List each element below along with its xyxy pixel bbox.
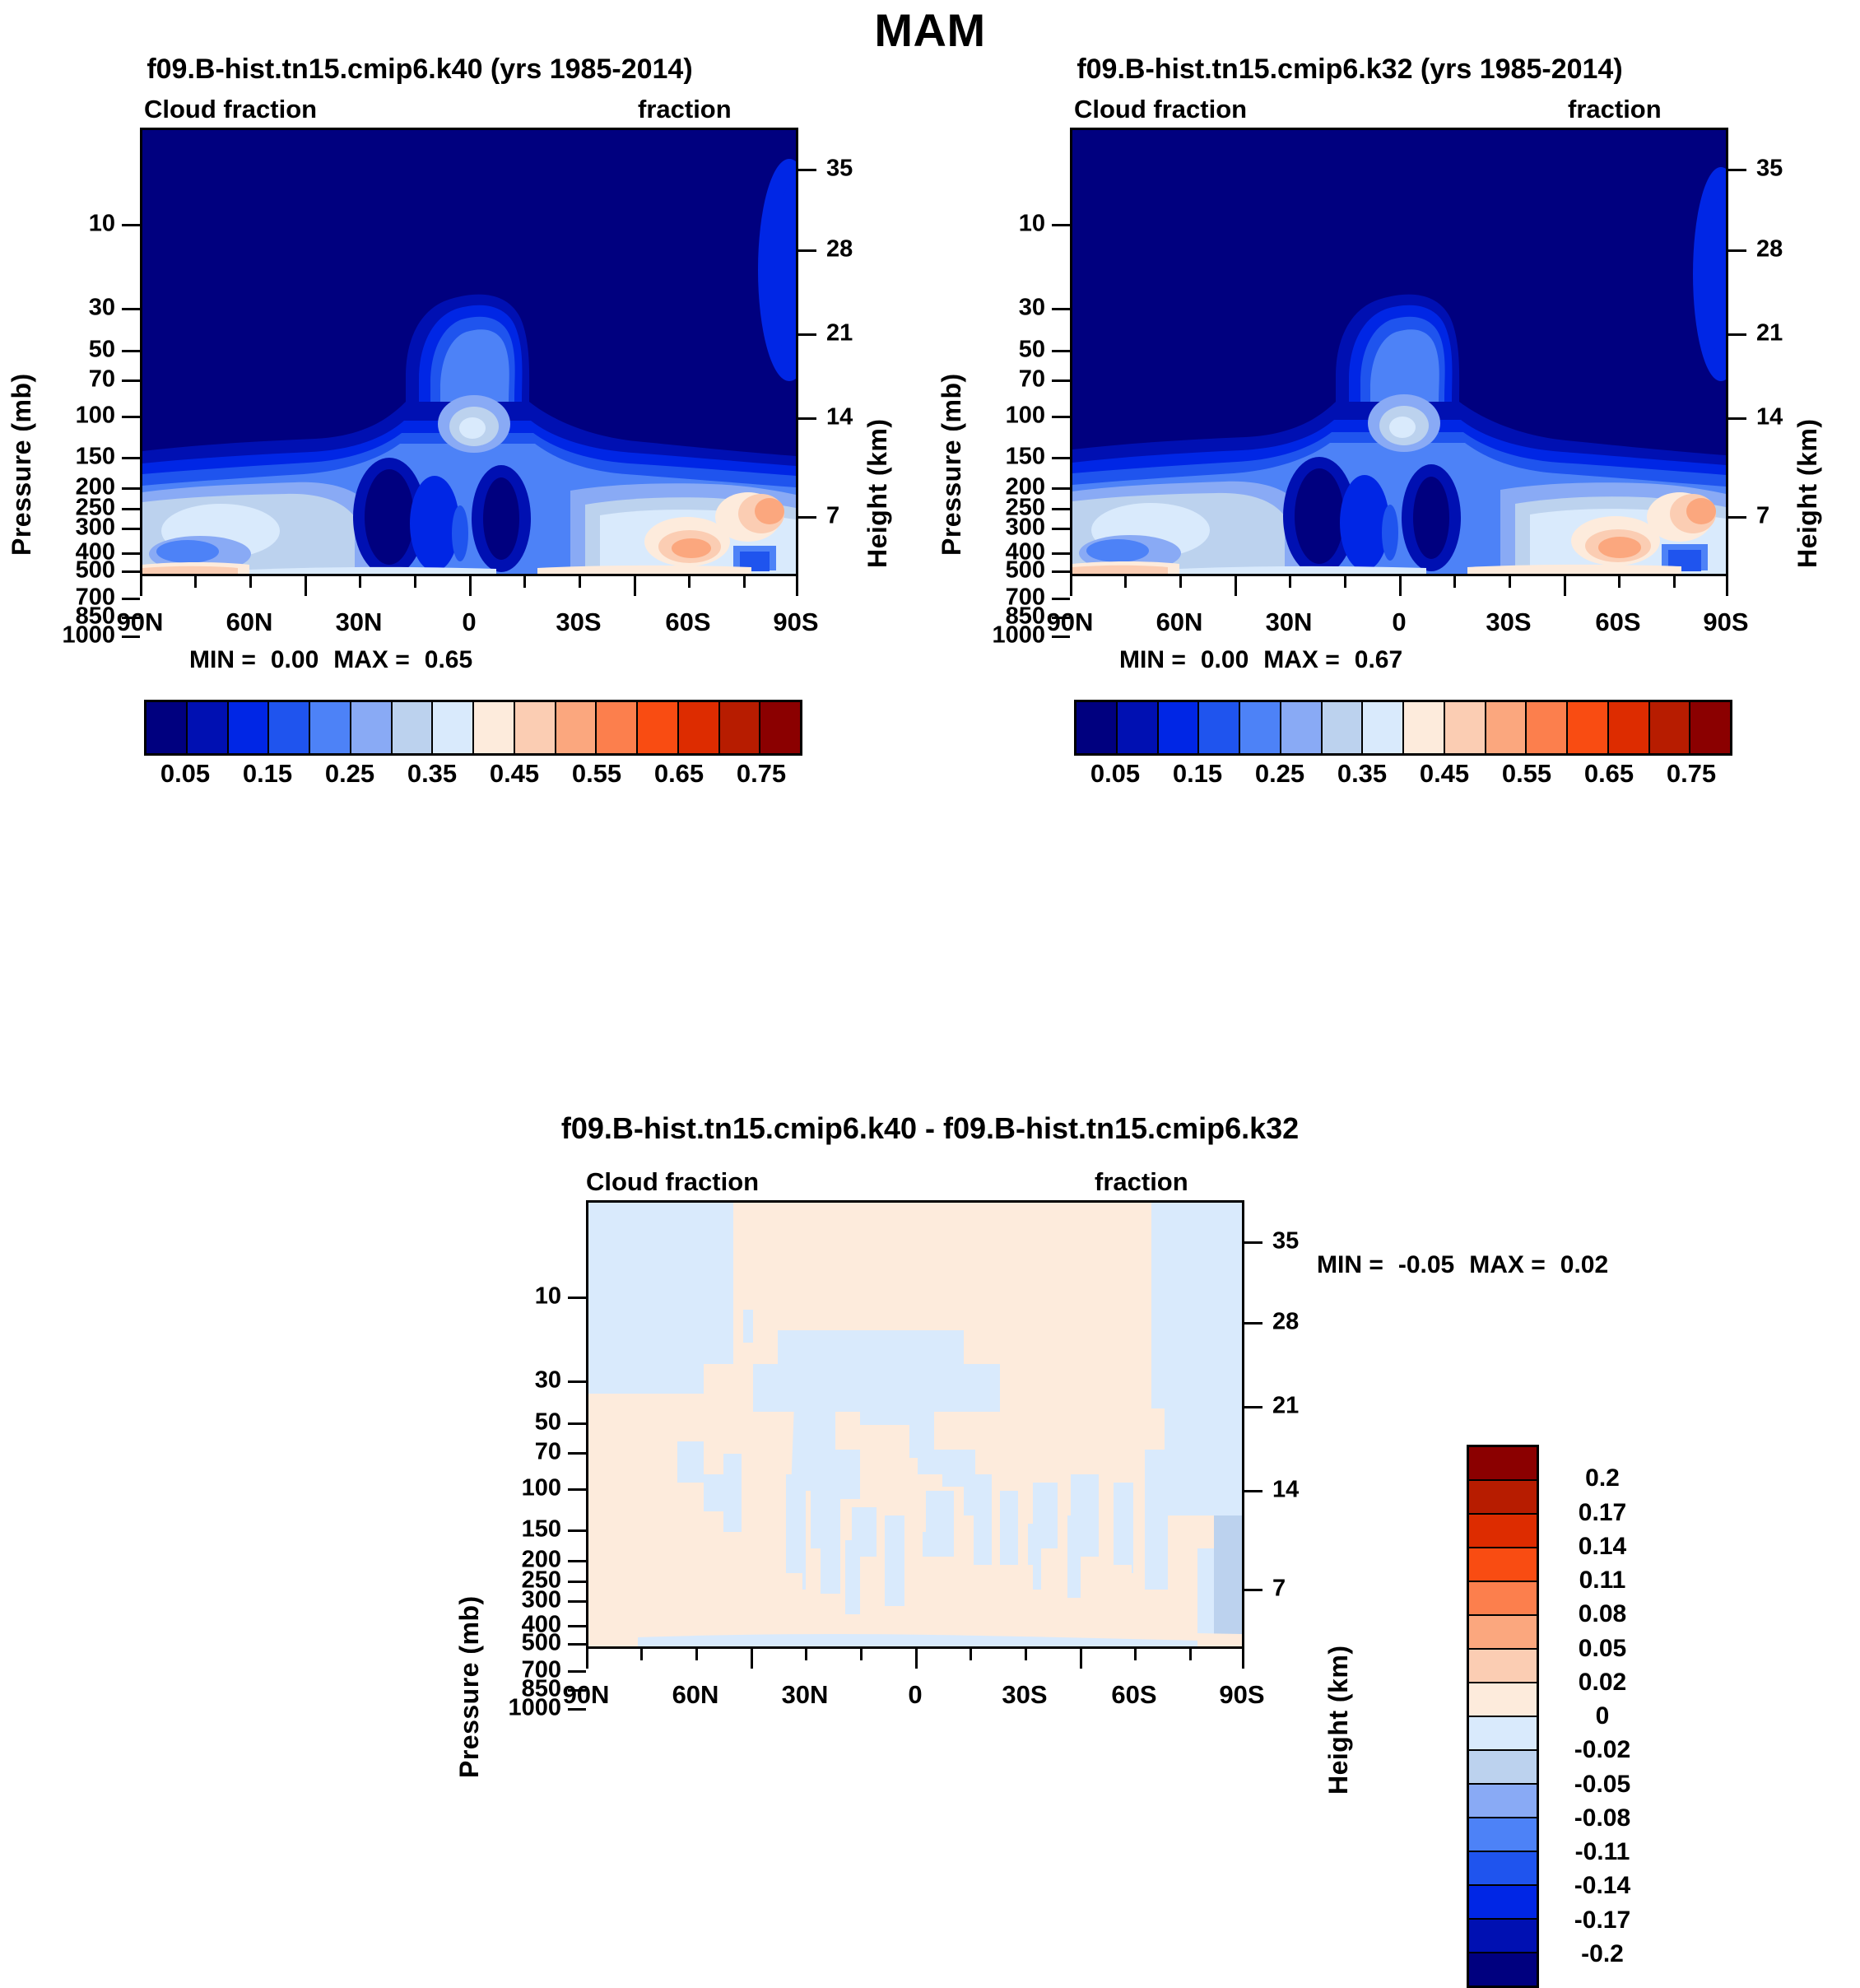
xtick-mark xyxy=(640,1649,643,1660)
colorbar-tick-label: 0.35 xyxy=(407,759,457,789)
panel-k40-minmax: MIN = 0.00 MAX = 0.65 xyxy=(189,646,472,674)
ytick-mark xyxy=(568,1600,586,1603)
xtick-label: 30N xyxy=(782,1680,829,1710)
y2tick-label: 7 xyxy=(826,503,839,530)
colorbar-strip xyxy=(1074,700,1732,756)
xtick-mark xyxy=(1618,576,1621,588)
colorbar-tick-label: 0.55 xyxy=(572,759,621,789)
y2tick-mark xyxy=(1244,1241,1262,1244)
max-label: MAX = xyxy=(333,646,410,674)
xtick-label: 60N xyxy=(226,608,273,637)
ytick-mark xyxy=(1052,598,1070,600)
colorbar-cell xyxy=(1404,702,1445,753)
panel-k40-units-label: fraction xyxy=(638,95,732,124)
panel-k32-field-label: Cloud fraction xyxy=(1074,95,1247,124)
colorbar-strip xyxy=(1467,1445,1539,1988)
colorbar-tick-label: 0.45 xyxy=(490,759,539,789)
panel-k32-plot-area xyxy=(1070,128,1728,576)
y2tick-label: 7 xyxy=(1756,503,1769,530)
xtick-label: 30S xyxy=(556,608,601,637)
colorbar-cell xyxy=(679,702,720,753)
panel-k32-contour-svg xyxy=(1072,130,1726,574)
y2tick-label: 28 xyxy=(1272,1309,1299,1336)
xtick-label: 90S xyxy=(1219,1680,1264,1710)
xtick-mark xyxy=(1025,1649,1027,1660)
colorbar-labels: 0.050.150.250.350.450.550.650.75 xyxy=(1074,756,1732,792)
colorbar-cell xyxy=(720,702,761,753)
xtick-mark xyxy=(249,576,252,588)
ytick-label: 150 xyxy=(1006,444,1045,471)
colorbar-cell xyxy=(1568,702,1609,753)
colorbar-cell xyxy=(1469,1785,1537,1818)
colorbar-cell xyxy=(310,702,351,753)
xtick-mark xyxy=(1124,576,1127,588)
max-value: 0.67 xyxy=(1355,646,1402,674)
panel-k32: f09.B-hist.tn15.cmip6.k32 (yrs 1985-2014… xyxy=(930,49,1860,1128)
colorbar-cell xyxy=(1469,1515,1537,1548)
xtick-mark xyxy=(1242,1649,1244,1669)
xtick-label: 0 xyxy=(462,608,476,637)
colorbar-cell xyxy=(1690,702,1730,753)
ytick-label: 300 xyxy=(1006,514,1045,542)
xtick-mark xyxy=(523,576,526,588)
colorbar-cell xyxy=(146,702,188,753)
xtick-label: 60S xyxy=(1111,1680,1156,1710)
colorbar-tick-label: 0.25 xyxy=(1255,759,1304,789)
y2tick-mark xyxy=(1728,516,1746,519)
colorbar-tick-label: 0.25 xyxy=(325,759,374,789)
ytick-mark xyxy=(568,1422,586,1425)
ytick-mark xyxy=(1052,487,1070,490)
colorbar-labels: 0.20.170.140.110.080.050.020-0.02-0.05-0… xyxy=(1549,1445,1656,1988)
y2tick-mark xyxy=(1728,169,1746,171)
ytick-label: 150 xyxy=(76,444,115,471)
y2tick-label: 28 xyxy=(826,236,853,263)
colorbar-cell xyxy=(638,702,679,753)
panel-k32-xaxis: 90N 60N 30N 0 30S 60S 90S xyxy=(1070,576,1728,650)
y2tick-mark xyxy=(1728,417,1746,420)
xtick-label: 0 xyxy=(1392,608,1406,637)
colorbar-cell xyxy=(1445,702,1486,753)
xtick-label: 30S xyxy=(1002,1680,1047,1710)
panel-diff-minmax: MIN = -0.05 MAX = 0.02 xyxy=(1317,1251,1608,1279)
min-label: MIN = xyxy=(189,646,256,674)
ytick-label: 500 xyxy=(1006,557,1045,584)
colorbar-cell xyxy=(393,702,434,753)
max-value: 0.02 xyxy=(1560,1251,1608,1279)
colorbar-labels: 0.050.150.250.350.450.550.650.75 xyxy=(144,756,802,792)
colorbar-tick-label: -0.08 xyxy=(1549,1804,1656,1832)
ytick-label: 1000 xyxy=(508,1695,561,1722)
panel-k32-title: f09.B-hist.tn15.cmip6.k32 (yrs 1985-2014… xyxy=(930,54,1769,86)
y2tick-mark xyxy=(1244,1322,1262,1325)
colorbar-cell xyxy=(1281,702,1323,753)
y2tick-label: 28 xyxy=(1756,236,1783,263)
colorbar-tick-label: -0.14 xyxy=(1549,1872,1656,1900)
colorbar-tick-label: -0.17 xyxy=(1549,1907,1656,1934)
panel-k40-y2axis: 35 28 21 14 7 xyxy=(798,128,889,576)
xtick-mark xyxy=(140,576,142,596)
colorbar-cell xyxy=(1159,702,1200,753)
colorbar-cell xyxy=(351,702,393,753)
y2tick-mark xyxy=(798,417,816,420)
ytick-mark xyxy=(568,1297,586,1299)
ytick-mark xyxy=(568,1380,586,1383)
min-label: MIN = xyxy=(1119,646,1186,674)
colorbar-tick-label: 0.55 xyxy=(1502,759,1551,789)
xtick-mark xyxy=(1070,576,1072,596)
xtick-mark xyxy=(1673,576,1676,588)
xtick-label: 30S xyxy=(1486,608,1531,637)
colorbar-tick-label: 0.05 xyxy=(1549,1635,1656,1663)
xtick-mark xyxy=(1344,576,1346,588)
xtick-mark xyxy=(805,1649,807,1660)
ytick-mark xyxy=(122,508,140,510)
colorbar-cell xyxy=(1363,702,1404,753)
y2tick-label: 21 xyxy=(1756,320,1783,347)
panel-k40: f09.B-hist.tn15.cmip6.k40 (yrs 1985-2014… xyxy=(0,49,930,1128)
ytick-mark xyxy=(122,416,140,418)
xtick-mark xyxy=(1134,1649,1137,1660)
colorbar-cell xyxy=(1469,1683,1537,1717)
ytick-mark xyxy=(1052,224,1070,226)
xtick-mark xyxy=(688,576,691,588)
y2tick-label: 14 xyxy=(1272,1477,1299,1504)
colorbar-cell xyxy=(1469,1717,1537,1751)
min-label: MIN = xyxy=(1317,1251,1383,1279)
xtick-mark xyxy=(743,576,746,588)
y2tick-label: 21 xyxy=(1272,1393,1299,1420)
colorbar-tick-label: 0.35 xyxy=(1337,759,1387,789)
xtick-label: 90N xyxy=(563,1680,610,1710)
colorbar-cell xyxy=(1076,702,1118,753)
colorbar-tick-label: 0.14 xyxy=(1549,1533,1656,1561)
colorbar-cell xyxy=(1118,702,1159,753)
panel-k40-title: f09.B-hist.tn15.cmip6.k40 (yrs 1985-2014… xyxy=(0,54,839,86)
ytick-mark xyxy=(122,598,140,600)
xtick-mark xyxy=(194,576,197,588)
ytick-label: 30 xyxy=(1019,295,1045,322)
ytick-mark xyxy=(1052,552,1070,555)
panel-diff: f09.B-hist.tn15.cmip6.k40 - f09.B-hist.t… xyxy=(0,1095,1860,1948)
ytick-label: 1000 xyxy=(62,622,115,649)
panel-k32-minmax: MIN = 0.00 MAX = 0.67 xyxy=(1119,646,1402,674)
y2tick-mark xyxy=(798,249,816,252)
colorbar-tick-label: -0.05 xyxy=(1549,1771,1656,1799)
xtick-mark xyxy=(1189,1649,1192,1660)
min-value: 0.00 xyxy=(271,646,319,674)
ytick-mark xyxy=(122,570,140,573)
ytick-label: 10 xyxy=(1019,211,1045,238)
colorbar-cell xyxy=(1527,702,1568,753)
xtick-mark xyxy=(695,1649,698,1660)
panel-diff-yaxis: 10 30 50 70 100 150 200 250 300 400 500 … xyxy=(479,1200,586,1649)
colorbar-tick-label: 0.45 xyxy=(1420,759,1469,789)
colorbar-cell xyxy=(760,702,800,753)
ytick-label: 150 xyxy=(522,1516,561,1543)
xtick-label: 90S xyxy=(1703,608,1748,637)
colorbar-tick-label: 0.11 xyxy=(1549,1567,1656,1595)
ytick-label: 30 xyxy=(535,1367,561,1394)
ytick-label: 70 xyxy=(535,1439,561,1466)
xtick-label: 60N xyxy=(672,1680,719,1710)
y2tick-label: 14 xyxy=(826,404,853,431)
colorbar-cell xyxy=(1469,1886,1537,1920)
colorbar-cell xyxy=(188,702,229,753)
ytick-mark xyxy=(568,1670,586,1673)
y2tick-label: 35 xyxy=(826,156,853,183)
xtick-mark xyxy=(586,1649,588,1669)
xtick-mark xyxy=(1080,1649,1082,1669)
ytick-mark xyxy=(122,487,140,490)
colorbar-cell xyxy=(515,702,556,753)
panel-k40-xaxis: 90N 60N 30N 0 30S 60S 90S xyxy=(140,576,798,650)
y2tick-mark xyxy=(798,516,816,519)
xtick-mark xyxy=(1179,576,1182,588)
y2tick-mark xyxy=(1728,333,1746,336)
colorbar-cell xyxy=(1469,1818,1537,1852)
colorbar-cell xyxy=(269,702,310,753)
ytick-mark xyxy=(1052,457,1070,459)
xtick-mark xyxy=(1453,576,1456,588)
y2tick-label: 21 xyxy=(826,320,853,347)
colorbar-cell xyxy=(597,702,638,753)
colorbar-cell xyxy=(1469,1852,1537,1886)
colorbar-tick-label: -0.2 xyxy=(1549,1940,1656,1968)
ytick-label: 70 xyxy=(1019,366,1045,393)
colorbar-tick-label: -0.11 xyxy=(1549,1838,1656,1866)
colorbar-cell xyxy=(1469,1481,1537,1515)
colorbar-cell xyxy=(1469,1650,1537,1683)
colorbar-tick-label: 0.15 xyxy=(243,759,292,789)
xtick-mark xyxy=(860,1649,863,1660)
xtick-mark xyxy=(796,576,798,596)
colorbar-cell xyxy=(1469,1582,1537,1616)
xtick-label: 60N xyxy=(1156,608,1203,637)
ytick-label: 100 xyxy=(1006,403,1045,430)
xtick-mark xyxy=(1235,576,1237,596)
ytick-mark xyxy=(568,1625,586,1627)
panel-k40-yaxis: 10 30 50 70 100 150 200 250 300 400 500 … xyxy=(33,128,140,576)
colorbar-tick-label: 0.08 xyxy=(1549,1600,1656,1628)
y2tick-label: 14 xyxy=(1756,404,1783,431)
ytick-mark xyxy=(568,1560,586,1562)
xtick-mark xyxy=(469,576,472,596)
xtick-mark xyxy=(579,576,581,588)
ytick-label: 70 xyxy=(89,366,115,393)
colorbar-tick-label: 0.02 xyxy=(1549,1669,1656,1697)
xtick-mark xyxy=(1399,576,1402,596)
ytick-label: 30 xyxy=(89,295,115,322)
xtick-label: 30N xyxy=(1266,608,1313,637)
colorbar-cell xyxy=(1469,1920,1537,1953)
colorbar-cell xyxy=(1469,1953,1537,1986)
colorbar-tick-label: 0.75 xyxy=(737,759,786,789)
ytick-mark xyxy=(568,1529,586,1532)
xtick-mark xyxy=(1509,576,1511,588)
panel-k40-contour-svg xyxy=(142,130,796,574)
colorbar-cell xyxy=(1469,1548,1537,1582)
ytick-mark xyxy=(1052,308,1070,310)
xtick-mark xyxy=(634,576,636,596)
ytick-mark xyxy=(122,350,140,352)
colorbar-tick-label: 0.15 xyxy=(1173,759,1222,789)
max-label: MAX = xyxy=(1469,1251,1546,1279)
xtick-mark xyxy=(970,1649,972,1660)
y2tick-label: 7 xyxy=(1272,1576,1286,1603)
panel-k40-colorbar: 0.050.150.250.350.450.550.650.75 xyxy=(144,700,802,792)
ytick-mark xyxy=(122,379,140,382)
panel-diff-units-label: fraction xyxy=(1095,1167,1188,1197)
panel-k40-plot-area xyxy=(140,128,798,576)
xtick-label: 60S xyxy=(1595,608,1640,637)
panel-k32-y2axis: 35 28 21 14 7 xyxy=(1728,128,1819,576)
ytick-mark xyxy=(1052,379,1070,382)
xtick-label: 60S xyxy=(665,608,710,637)
ytick-mark xyxy=(568,1452,586,1455)
panel-diff-title: f09.B-hist.tn15.cmip6.k40 - f09.B-hist.t… xyxy=(0,1111,1860,1146)
xtick-label: 0 xyxy=(908,1680,922,1710)
y2tick-mark xyxy=(1728,249,1746,252)
y2tick-mark xyxy=(1244,1406,1262,1408)
ytick-label: 50 xyxy=(535,1409,561,1436)
ytick-label: 100 xyxy=(76,403,115,430)
ytick-mark xyxy=(122,457,140,459)
xtick-label: 90S xyxy=(773,608,818,637)
colorbar-strip xyxy=(144,700,802,756)
xtick-label: 30N xyxy=(336,608,383,637)
panel-diff-contour-svg xyxy=(588,1203,1242,1646)
colorbar-cell xyxy=(1609,702,1650,753)
panel-diff-field-label: Cloud fraction xyxy=(586,1167,759,1197)
ytick-mark xyxy=(1052,570,1070,573)
colorbar-cell xyxy=(1240,702,1281,753)
colorbar-tick-label: 0.75 xyxy=(1667,759,1716,789)
ytick-mark xyxy=(1052,416,1070,418)
min-value: 0.00 xyxy=(1201,646,1249,674)
max-label: MAX = xyxy=(1263,646,1340,674)
colorbar-tick-label: 0.65 xyxy=(654,759,704,789)
ytick-mark xyxy=(122,308,140,310)
colorbar-cell xyxy=(1486,702,1528,753)
ytick-label: 10 xyxy=(535,1283,561,1311)
ytick-mark xyxy=(122,552,140,555)
colorbar-cell xyxy=(433,702,474,753)
ytick-label: 300 xyxy=(76,514,115,542)
colorbar-cell xyxy=(1199,702,1240,753)
ytick-mark xyxy=(1052,350,1070,352)
ytick-label: 300 xyxy=(522,1587,561,1614)
panel-diff-colorbar: 0.20.170.140.110.080.050.020-0.02-0.05-0… xyxy=(1467,1445,1656,1988)
xtick-mark xyxy=(1726,576,1728,596)
xtick-label: 90N xyxy=(1047,608,1094,637)
colorbar-tick-label: 0.05 xyxy=(1090,759,1140,789)
y2tick-mark xyxy=(798,333,816,336)
panel-diff-plot-area xyxy=(586,1200,1244,1649)
xtick-mark xyxy=(1289,576,1291,588)
panel-k32-units-label: fraction xyxy=(1568,95,1662,124)
ytick-mark xyxy=(122,224,140,226)
ytick-label: 50 xyxy=(1019,337,1045,364)
colorbar-tick-label: 0 xyxy=(1549,1702,1656,1730)
min-value: -0.05 xyxy=(1398,1251,1454,1279)
ytick-mark xyxy=(1052,508,1070,510)
colorbar-cell xyxy=(474,702,515,753)
xtick-label: 90N xyxy=(117,608,164,637)
y2tick-mark xyxy=(1244,1589,1262,1591)
panel-k32-colorbar: 0.050.150.250.350.450.550.650.75 xyxy=(1074,700,1732,792)
colorbar-tick-label: 0.65 xyxy=(1584,759,1634,789)
colorbar-tick-label: -0.02 xyxy=(1549,1736,1656,1764)
ytick-mark xyxy=(568,1488,586,1491)
ytick-mark xyxy=(1052,528,1070,530)
ytick-label: 50 xyxy=(89,337,115,364)
colorbar-cell xyxy=(1469,1616,1537,1650)
ytick-mark xyxy=(568,1581,586,1583)
panel-diff-xaxis: 90N 60N 30N 0 30S 60S 90S xyxy=(586,1649,1244,1723)
colorbar-cell xyxy=(229,702,270,753)
ytick-label: 100 xyxy=(522,1475,561,1502)
colorbar-cell xyxy=(1323,702,1364,753)
colorbar-tick-label: 0.05 xyxy=(160,759,210,789)
ytick-label: 500 xyxy=(76,557,115,584)
xtick-mark xyxy=(1564,576,1566,596)
y2tick-mark xyxy=(798,169,816,171)
xtick-mark xyxy=(305,576,307,596)
colorbar-cell xyxy=(1469,1447,1537,1481)
panel-k40-field-label: Cloud fraction xyxy=(144,95,317,124)
colorbar-cell xyxy=(1650,702,1691,753)
y2tick-label: 35 xyxy=(1272,1228,1299,1255)
colorbar-cell xyxy=(556,702,598,753)
xtick-mark xyxy=(751,1649,753,1669)
y2tick-mark xyxy=(1244,1490,1262,1492)
colorbar-cell xyxy=(1469,1751,1537,1785)
xtick-mark xyxy=(359,576,361,588)
max-value: 0.65 xyxy=(425,646,472,674)
xtick-mark xyxy=(915,1649,918,1669)
ytick-label: 1000 xyxy=(992,622,1045,649)
ytick-label: 500 xyxy=(522,1630,561,1657)
colorbar-tick-label: 0.2 xyxy=(1549,1464,1656,1492)
ytick-label: 10 xyxy=(89,211,115,238)
colorbar-tick-label: 0.17 xyxy=(1549,1499,1656,1527)
ytick-mark xyxy=(122,528,140,530)
ytick-mark xyxy=(568,1643,586,1646)
panel-k32-yaxis: 10 30 50 70 100 150 200 250 300 400 500 … xyxy=(963,128,1070,576)
y2tick-label: 35 xyxy=(1756,156,1783,183)
xtick-mark xyxy=(414,576,416,588)
